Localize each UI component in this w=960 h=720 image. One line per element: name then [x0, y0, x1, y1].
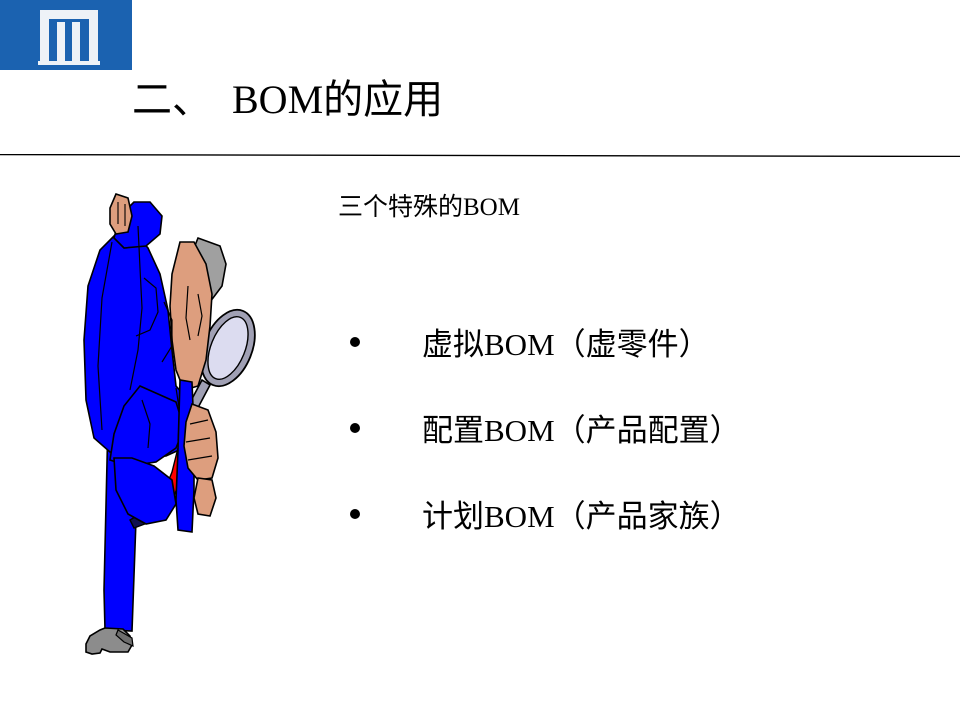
- list-item-label: 虚拟BOM（虚零件）: [422, 326, 710, 364]
- bullet-dot-icon: [350, 423, 360, 433]
- bullet-dot-icon: [350, 337, 360, 347]
- upper-hand-shape: [110, 194, 132, 234]
- subtitle-text: 三个特殊的BOM: [338, 192, 520, 224]
- temple-columns-logo-icon: [38, 8, 100, 66]
- list-item: 配置BOM（产品配置）: [350, 412, 910, 498]
- thumb-shape: [194, 478, 216, 516]
- title-divider: [0, 154, 960, 157]
- list-item: 计划BOM（产品家族）: [350, 498, 910, 584]
- list-item-label: 配置BOM（产品配置）: [422, 412, 741, 450]
- page-title: 二、 BOM的应用: [132, 76, 832, 124]
- brand-logo: [0, 0, 132, 70]
- bullet-list: 虚拟BOM（虚零件） 配置BOM（产品配置） 计划BOM（产品家族）: [350, 326, 910, 584]
- man-with-magnifying-glass-illustration: [80, 190, 270, 660]
- list-item: 虚拟BOM（虚零件）: [350, 326, 910, 412]
- list-item-label: 计划BOM（产品家族）: [422, 498, 741, 536]
- bullet-dot-icon: [350, 509, 360, 519]
